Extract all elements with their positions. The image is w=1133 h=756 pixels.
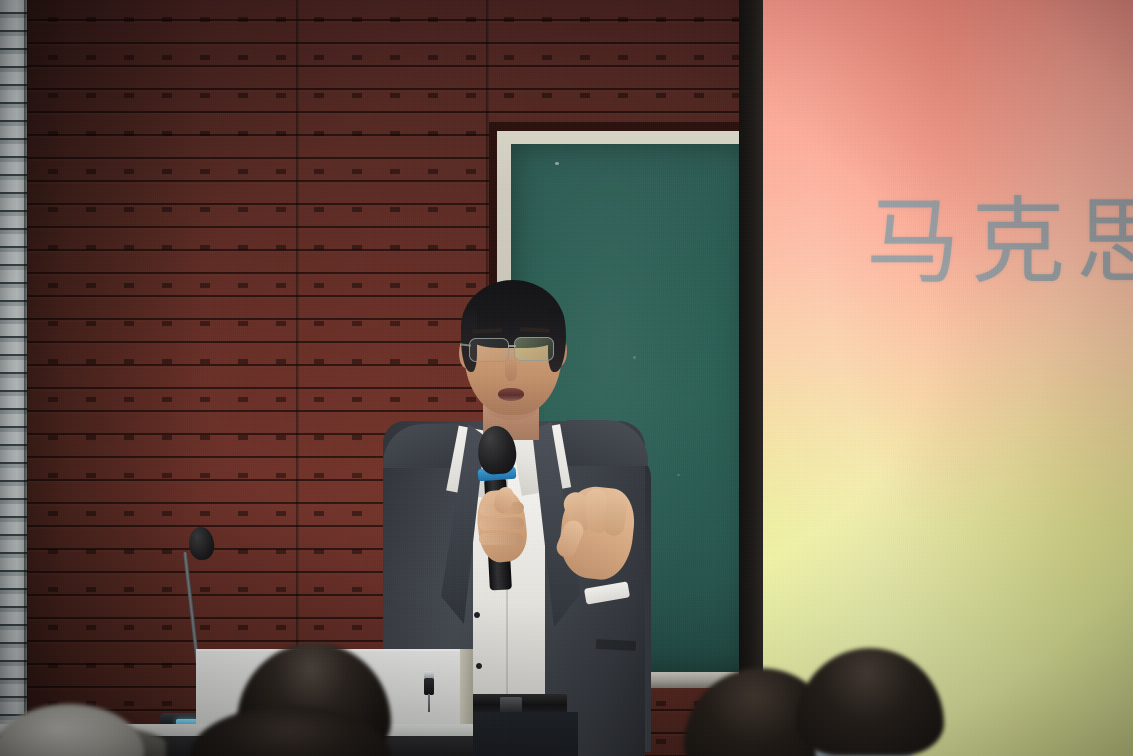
speaker-jacket-button — [476, 663, 482, 669]
key-blade — [428, 694, 430, 712]
louvre-edge-shadow — [24, 0, 28, 756]
speaker-jacket-button — [474, 612, 480, 618]
glasses-bridge — [508, 345, 516, 347]
projection-screen — [763, 0, 1133, 756]
speaker-belt-buckle — [500, 697, 522, 713]
key-icon — [424, 678, 434, 695]
glasses-lens-right-icon — [514, 337, 554, 361]
projection-screen-title: 马克思 — [866, 196, 1133, 290]
speaker-nose — [505, 355, 517, 381]
wall-seam — [296, 0, 299, 756]
projection-screen-left-edge — [739, 0, 764, 756]
lecture-photo-scene: 马克思 — [0, 0, 1133, 756]
glasses-lens-left-icon — [469, 338, 509, 362]
speaker-left-hand-finger — [479, 533, 523, 545]
speaker-chin-shadow — [487, 398, 537, 420]
speaker-jacket-pocket — [596, 639, 636, 651]
speaker-left-hand-finger — [479, 517, 524, 531]
louvre-slats — [0, 0, 27, 756]
speaker-trousers — [468, 712, 578, 756]
